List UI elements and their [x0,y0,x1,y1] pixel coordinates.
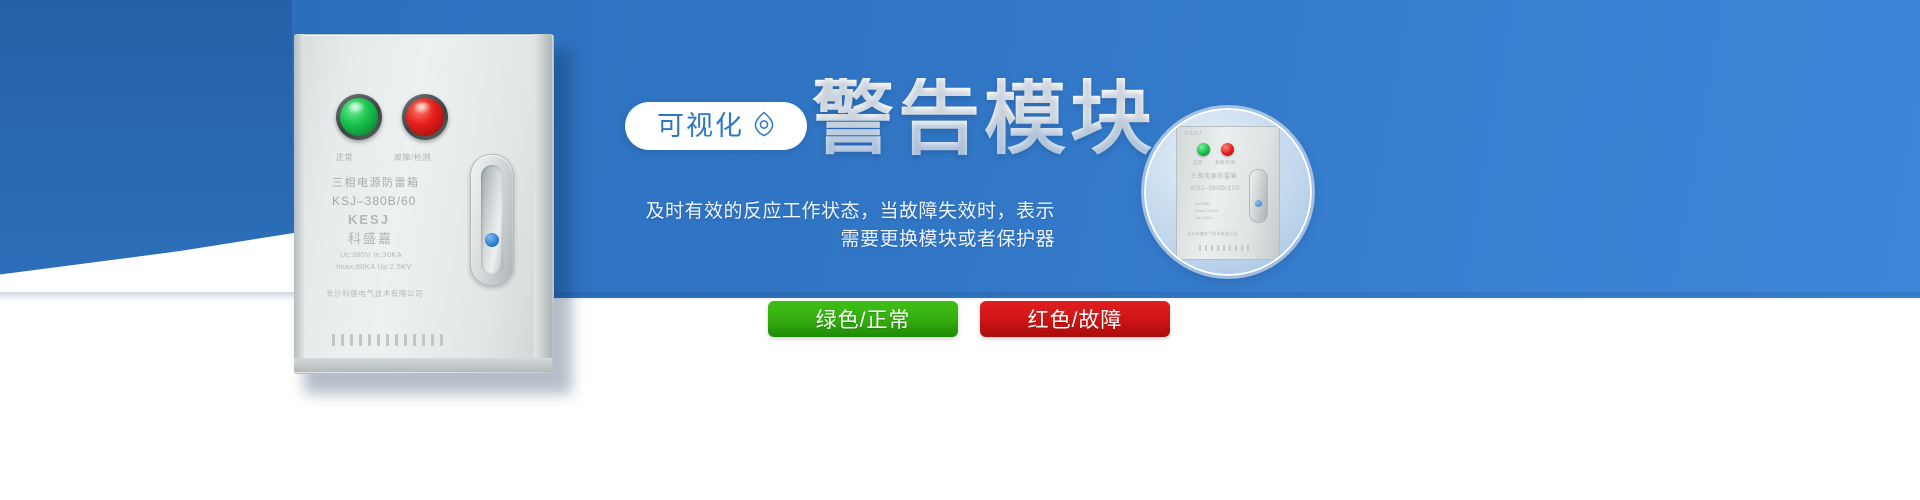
product-title-print: 三相电源防雷箱 [332,174,420,190]
thumbnail-company-print: 长沙科盛电气技术有限公司 [1187,231,1237,237]
location-target-icon [753,111,775,142]
thumbnail-green-lamp-label: 正常 [1193,160,1202,166]
lamp-highlight [414,102,431,114]
product-bottom-edge [294,358,552,372]
promo-banner: 正常 故障/检测 三相电源防雷箱 KSJ–380B/60 KESJ 科盛嘉 Uc… [0,0,1920,500]
red-indicator-lamp [406,98,444,136]
thumbnail-brand-print: KESJ [1185,131,1202,137]
product-photo: 正常 故障/检测 三相电源防雷箱 KSJ–380B/60 KESJ 科盛嘉 Uc… [294,34,556,376]
thumbnail-spec-line3: Up:2.5KV [1195,215,1213,220]
banner-headline: 警告模块 [812,78,1156,160]
thumbnail-spec-line1: Uc:385V [1195,201,1211,206]
green-indicator-lamp [340,98,378,136]
lamp-highlight [348,102,365,114]
thumbnail-green-lamp [1197,143,1210,156]
product-right-edge [534,34,552,372]
subtitle-line-1: 及时有效的反应工作状态，当故障失效时，表示 [600,198,1055,226]
product-left-edge [294,34,304,372]
status-badge-normal[interactable]: 绿色/正常 [768,301,958,337]
product-brand-cn-print: 科盛嘉 [348,228,393,247]
product-green-lamp-label: 正常 [336,152,353,163]
visualization-badge: 可视化 [625,102,807,150]
thumbnail-vent-slots [1199,245,1253,251]
product-red-lamp-label: 故障/检测 [394,152,431,163]
product-brand-en-print: KESJ [348,212,390,227]
status-badge-fault[interactable]: 红色/故障 [980,301,1170,337]
banner-bottom-shadow [0,292,1920,301]
product-thumbnail-circle: KESJ 正常 故障/检测 三相电源防雷箱 KSJ–380D/120 Uc:38… [1144,108,1312,276]
product-spec-line1: Uc:385V In:30KA [340,250,402,259]
thumbnail-latch-knob [1255,200,1262,207]
visualization-badge-label: 可视化 [657,113,744,140]
thumbnail-enclosure-body: KESJ 正常 故障/检测 三相电源防雷箱 KSJ–380D/120 Uc:38… [1176,126,1280,260]
thumbnail-spec-line2: Imax:120KA [1195,208,1218,213]
thumbnail-red-lamp [1221,143,1234,156]
product-model-print: KSJ–380B/60 [332,194,416,208]
thumbnail-red-lamp-label: 故障/检测 [1215,160,1235,166]
status-badge-row: 绿色/正常 红色/故障 [768,301,1170,337]
thumbnail-door-latch [1249,169,1268,223]
product-company-print: 长沙科盛电气技术有限公司 [326,288,423,299]
thumbnail-title-print: 三相电源防雷箱 [1191,171,1237,180]
door-latch-handle [470,154,514,286]
latch-knob [485,233,499,247]
subtitle-line-2: 需要更换模块或者保护器 [600,226,1055,254]
product-vent-slots [332,334,448,346]
product-spec-line2: Imax:60KA Up:2.5KV [336,262,412,271]
banner-subtitle: 及时有效的反应工作状态，当故障失效时，表示 需要更换模块或者保护器 [600,198,1055,253]
thumbnail-model-print: KSJ–380D/120 [1191,185,1240,192]
latch-slot [481,165,503,275]
